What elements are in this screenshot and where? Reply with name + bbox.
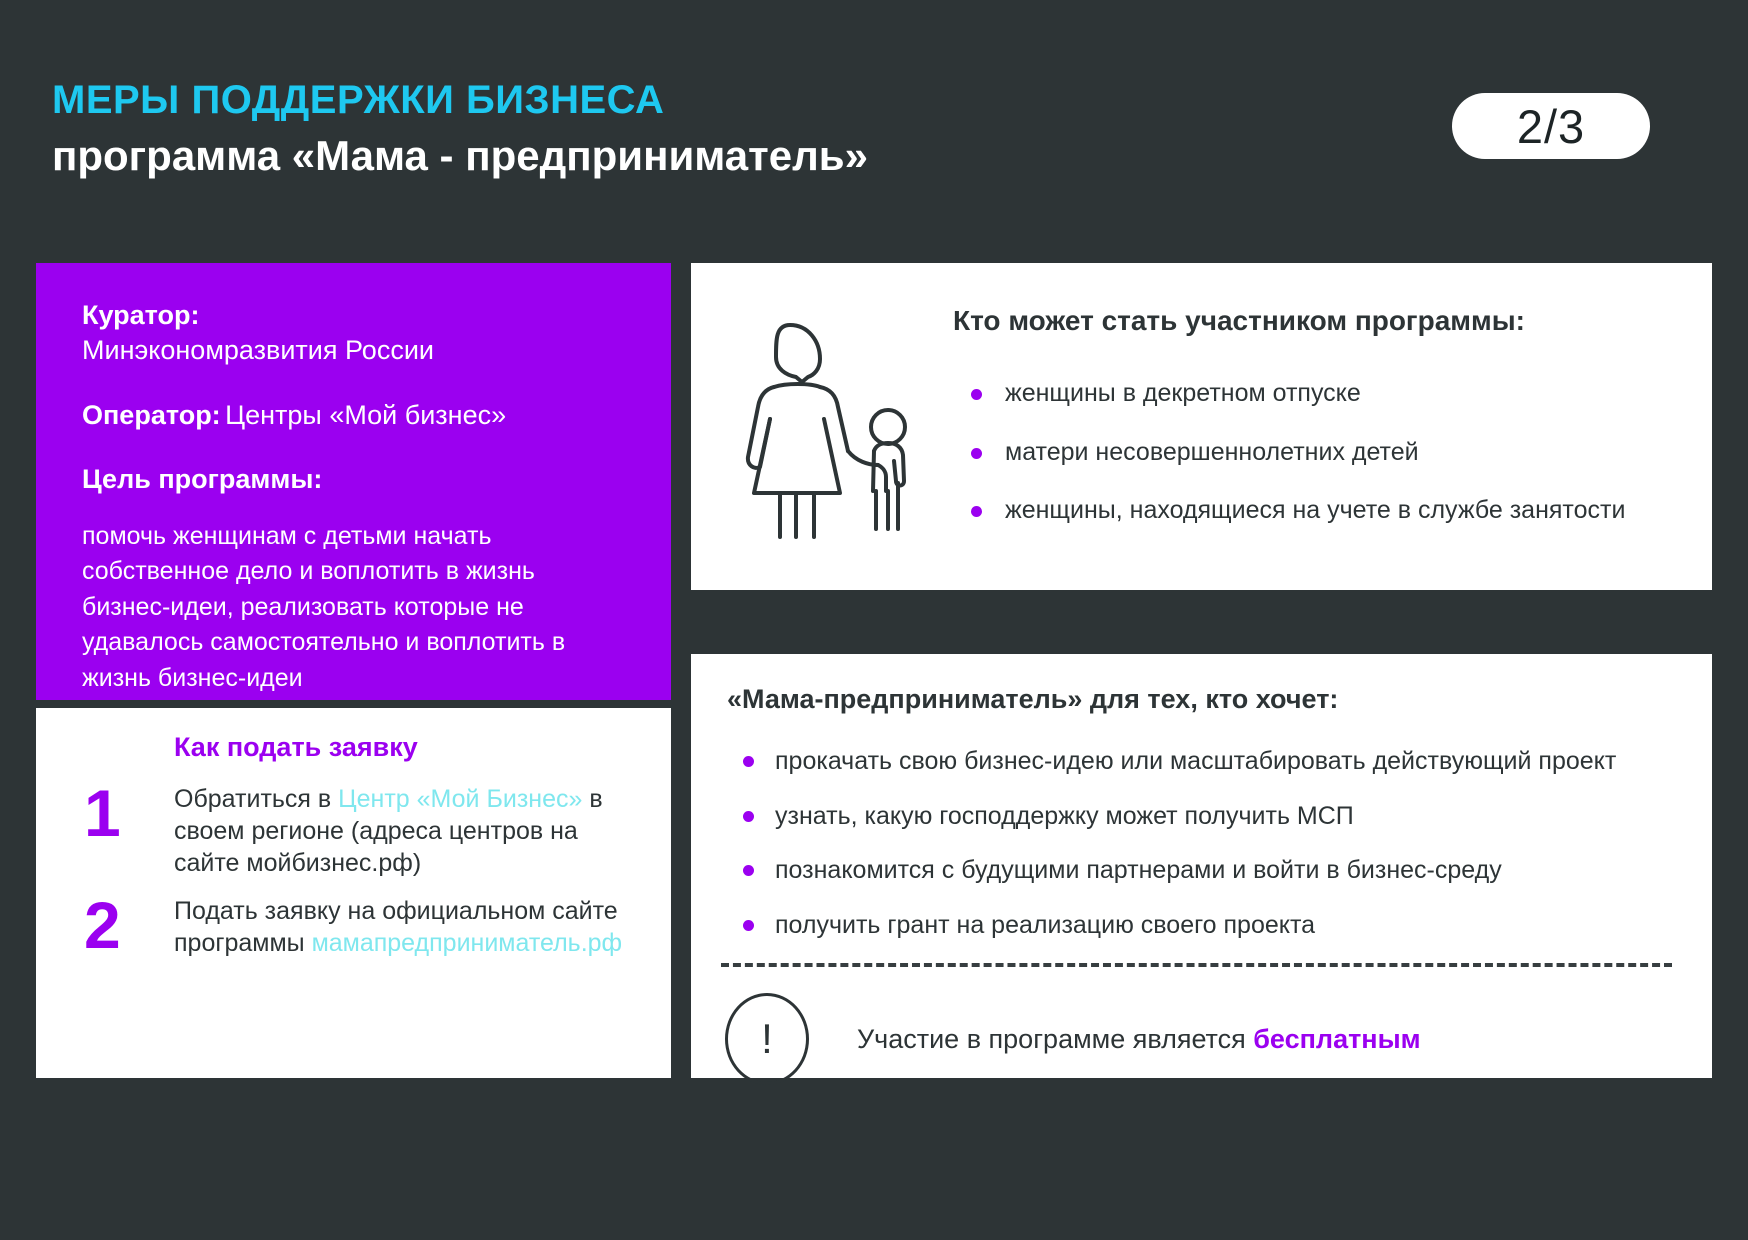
free-note-highlight: бесплатным (1253, 1024, 1420, 1054)
list-item: женщины в декретном отпуске (953, 377, 1682, 410)
mother-and-child-icon (703, 289, 953, 570)
curator-block: Куратор: Минэкономразвития России (82, 299, 625, 368)
page-title: программа «Мама - предприниматель» (52, 132, 868, 180)
list-item: прокачать свою бизнес-идею или масштабир… (721, 745, 1672, 778)
curator-info-card: Куратор: Минэкономразвития России Операт… (36, 263, 671, 700)
wants-card-title: «Мама-предприниматель» для тех, кто хоче… (721, 684, 1672, 715)
operator-label: Оператор: (82, 400, 221, 430)
step-link-center-my-business[interactable]: Центр «Мой Бизнес» (338, 785, 582, 813)
apply-step: 2 Подать заявку на официальном сайте про… (70, 895, 637, 959)
page-badge: 2/3 (1452, 93, 1650, 159)
divider (721, 963, 1672, 967)
list-item: получить грант на реализацию своего прое… (721, 909, 1672, 942)
curator-value: Минэкономразвития России (82, 333, 625, 368)
step-link-program-site[interactable]: мамапредприниматель.рф (312, 929, 623, 957)
exclamation-icon: ! (721, 993, 813, 1085)
curator-label: Куратор: (82, 299, 625, 333)
step-text-part: Обратиться в (174, 785, 338, 813)
free-note-prefix: Участие в программе является (857, 1024, 1253, 1054)
operator-value: Центры «Мой бизнес» (225, 400, 506, 430)
free-note-text: Участие в программе является бесплатным (857, 1024, 1421, 1055)
goal-text: помочь женщинам с детьми начать собствен… (82, 519, 625, 697)
goal-block: Цель программы: помочь женщинам с детьми… (82, 463, 625, 696)
step-number: 1 (70, 783, 174, 844)
step-text: Обратиться в Центр «Мой Бизнес» в своем … (174, 783, 637, 879)
step-number: 2 (70, 895, 174, 956)
list-item: познакомится с будущими партнерами и вой… (721, 854, 1672, 887)
wants-bullet-list: прокачать свою бизнес-идею или масштабир… (721, 745, 1672, 941)
how-to-apply-card: Как подать заявку 1 Обратиться в Центр «… (36, 708, 671, 1078)
header-kicker: МЕРЫ ПОДДЕРЖКИ БИЗНЕСА (52, 78, 868, 122)
who-card-title: Кто может стать участником программы: (953, 303, 1682, 339)
apply-step: 1 Обратиться в Центр «Мой Бизнес» в свое… (70, 783, 637, 879)
exclamation-glyph: ! (725, 993, 809, 1085)
list-item: женщины, находящиеся на учете в службе з… (953, 494, 1682, 527)
program-benefits-card: «Мама-предприниматель» для тех, кто хоче… (691, 654, 1712, 1078)
list-item: узнать, какую господдержку может получит… (721, 800, 1672, 833)
operator-block: Оператор: Центры «Мой бизнес» (82, 398, 625, 433)
header: МЕРЫ ПОДДЕРЖКИ БИЗНЕСА программа «Мама -… (52, 78, 868, 180)
free-participation-note: ! Участие в программе является бесплатны… (721, 993, 1672, 1085)
step-text: Подать заявку на официальном сайте прогр… (174, 895, 637, 959)
apply-card-title: Как подать заявку (174, 732, 637, 763)
goal-label: Цель программы: (82, 463, 625, 497)
who-can-participate-card: Кто может стать участником программы: же… (691, 263, 1712, 590)
list-item: матери несовершеннолетних детей (953, 436, 1682, 469)
who-bullet-list: женщины в декретном отпуске матери несов… (953, 377, 1682, 527)
slide-root: МЕРЫ ПОДДЕРЖКИ БИЗНЕСА программа «Мама -… (0, 0, 1748, 1240)
